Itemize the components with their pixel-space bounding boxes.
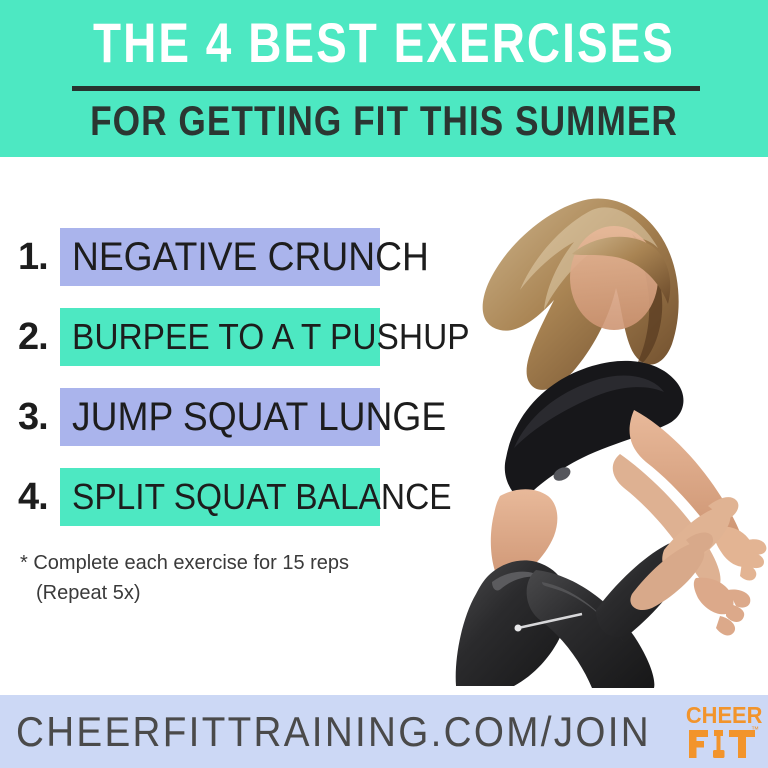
list-item-number: 1. <box>18 238 48 276</box>
list-item-highlight: BURPEE TO A T PUSHUP <box>60 308 380 366</box>
list-item-label: JUMP SQUAT LUNGE <box>72 396 446 438</box>
list-item-highlight: JUMP SQUAT LUNGE <box>60 388 380 446</box>
logo-cheer-text: CHEER <box>686 704 758 727</box>
list-item: 4. SPLIT SQUAT BALANCE <box>0 468 400 526</box>
page-title: THE 4 BEST EXERCISES <box>69 12 699 74</box>
exercise-list: 1. NEGATIVE CRUNCH 2. BURPEE TO A T PUSH… <box>0 228 400 548</box>
list-item-label: NEGATIVE CRUNCH <box>72 236 429 278</box>
list-item-number: 2. <box>18 318 48 356</box>
footnote: * Complete each exercise for 15 reps (Re… <box>20 548 420 608</box>
logo-trademark: ™ <box>751 726 759 734</box>
list-item-label: SPLIT SQUAT BALANCE <box>72 476 452 518</box>
page-subtitle: FOR GETTING FIT THIS SUMMER <box>61 97 706 145</box>
header-band: THE 4 BEST EXERCISES FOR GETTING FIT THI… <box>0 0 768 157</box>
list-item-number: 4. <box>18 478 48 516</box>
cheerfit-logo[interactable]: CHEER ™ <box>684 704 760 760</box>
list-item-highlight: NEGATIVE CRUNCH <box>60 228 380 286</box>
athlete-photo <box>396 158 768 688</box>
footnote-line-1: * Complete each exercise for 15 reps <box>20 548 420 578</box>
list-item-label: BURPEE TO A T PUSHUP <box>72 316 470 358</box>
logo-fit-lockup: ™ <box>684 728 760 760</box>
list-item: 1. NEGATIVE CRUNCH <box>0 228 400 286</box>
logo-fit-dumbbell-icon <box>687 728 757 760</box>
footnote-line-2: (Repeat 5x) <box>20 578 420 608</box>
list-item-number: 3. <box>18 398 48 436</box>
footer-band: CHEERFITTRAINING.COM/JOIN CHEER ™ <box>0 695 768 768</box>
list-item-highlight: SPLIT SQUAT BALANCE <box>60 468 380 526</box>
infographic-poster: THE 4 BEST EXERCISES FOR GETTING FIT THI… <box>0 0 768 768</box>
list-item: 3. JUMP SQUAT LUNGE <box>0 388 400 446</box>
list-item: 2. BURPEE TO A T PUSHUP <box>0 308 400 366</box>
website-url[interactable]: CHEERFITTRAINING.COM/JOIN <box>16 709 651 755</box>
athlete-illustration <box>396 158 768 688</box>
title-divider <box>72 86 700 91</box>
